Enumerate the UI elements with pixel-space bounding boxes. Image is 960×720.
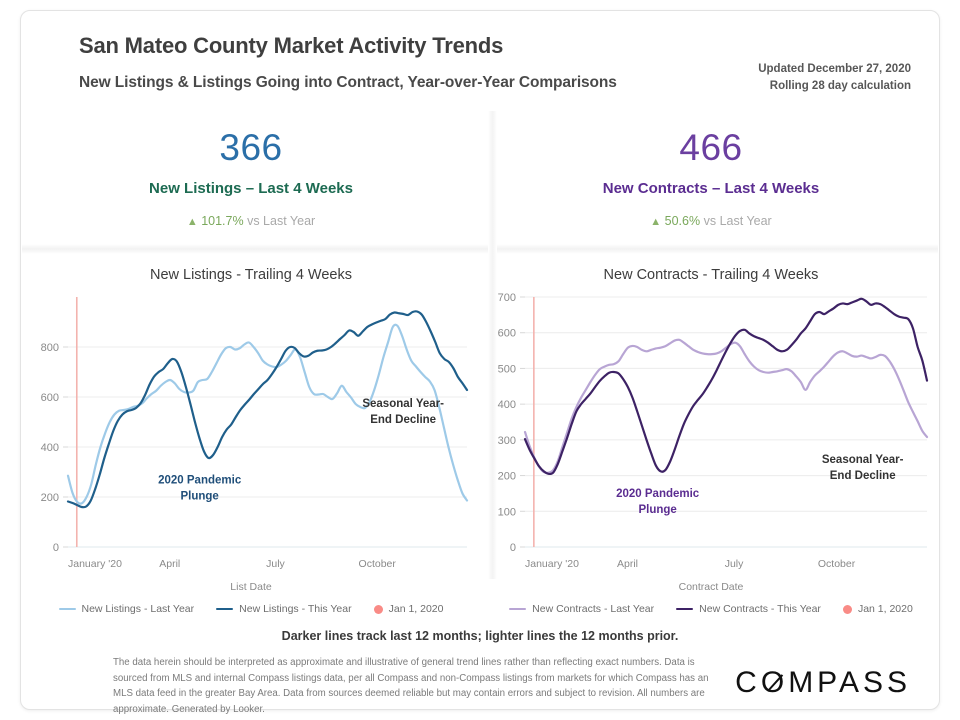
- page-title: San Mateo County Market Activity Trends: [79, 33, 503, 59]
- chart-annotation: Plunge: [638, 504, 676, 516]
- legend-label: New Listings - This Year: [239, 603, 351, 615]
- legend-label: Jan 1, 2020: [389, 603, 444, 615]
- legend-label: New Listings - Last Year: [82, 603, 195, 615]
- y-axis-tick: 700: [498, 292, 516, 304]
- y-axis-tick: 400: [41, 442, 59, 454]
- chart-annotation: 2020 Pandemic: [616, 488, 700, 500]
- dashboard-page: San Mateo County Market Activity Trends …: [0, 0, 960, 720]
- x-axis-label: Contract Date: [481, 581, 941, 593]
- logo-text-post: MPASS: [788, 666, 911, 699]
- x-axis-tick: January '20: [525, 558, 579, 570]
- updated-date: Updated December 27, 2020: [758, 61, 911, 78]
- kpi-label: New Listings – Last 4 Weeks: [21, 180, 481, 197]
- legend-item[interactable]: New Listings - Last Year: [59, 603, 195, 615]
- kpi-delta-value: 50.6%: [665, 214, 700, 228]
- legend-label: New Contracts - Last Year: [532, 603, 654, 615]
- legend-item[interactable]: New Contracts - This Year: [676, 603, 821, 615]
- chart-canvas: 0100200300400500600700January '20AprilJu…: [481, 283, 941, 595]
- legend-line-swatch: [59, 608, 76, 611]
- legend-line-swatch: [676, 608, 693, 611]
- legend-dot-marker: [374, 605, 383, 614]
- y-axis-tick: 600: [498, 328, 516, 340]
- legend-item[interactable]: New Listings - This Year: [216, 603, 351, 615]
- legend-label: New Contracts - This Year: [699, 603, 821, 615]
- x-axis-tick: April: [617, 558, 638, 570]
- report-panel: San Mateo County Market Activity Trends …: [20, 10, 940, 710]
- kpi-value: 366: [21, 129, 481, 166]
- chart-new-contracts: New Contracts - Trailing 4 Weeks 0100200…: [481, 259, 941, 619]
- legend-label: Jan 1, 2020: [858, 603, 913, 615]
- y-axis-tick: 200: [41, 492, 59, 504]
- logo-text-pre: C: [735, 666, 761, 699]
- y-axis-tick: 600: [41, 392, 59, 404]
- x-axis-tick: October: [359, 558, 397, 570]
- series-line: [525, 340, 927, 473]
- x-axis-label: List Date: [21, 581, 481, 593]
- legend-line-swatch: [509, 608, 526, 611]
- kpi-delta: ▲ 50.6% vs Last Year: [481, 214, 941, 228]
- chart-title: New Contracts - Trailing 4 Weeks: [481, 267, 941, 283]
- chart-annotation: End Decline: [830, 470, 896, 482]
- legend-item[interactable]: Jan 1, 2020: [843, 603, 913, 615]
- series-line: [525, 299, 927, 474]
- y-axis-tick: 200: [498, 471, 516, 483]
- triangle-up-icon: ▲: [187, 216, 198, 228]
- legend-dot-marker: [843, 605, 852, 614]
- y-axis-tick: 100: [498, 506, 516, 518]
- x-axis-tick: January '20: [68, 558, 122, 570]
- chart-annotation: 2020 Pandemic: [158, 474, 242, 486]
- chart-annotation: Plunge: [180, 490, 218, 502]
- kpi-delta-suffix: vs Last Year: [247, 214, 315, 228]
- horizontal-divider: [22, 244, 938, 254]
- kpi-delta: ▲ 101.7% vs Last Year: [21, 214, 481, 228]
- chart-annotation: Seasonal Year-: [362, 398, 444, 410]
- chart-legend-listings: New Listings - Last YearNew Listings - T…: [21, 603, 481, 615]
- legend-line-swatch: [216, 608, 233, 611]
- page-subtitle: New Listings & Listings Going into Contr…: [79, 74, 617, 92]
- y-axis-tick: 0: [510, 542, 516, 554]
- y-axis-tick: 500: [498, 363, 516, 375]
- compass-logo: COMPASS: [735, 666, 911, 700]
- report-meta: Updated December 27, 2020 Rolling 28 day…: [758, 61, 911, 94]
- kpi-delta-suffix: vs Last Year: [704, 214, 772, 228]
- y-axis-tick: 0: [53, 542, 59, 554]
- kpi-card-new-listings: 366 New Listings – Last 4 Weeks ▲ 101.7%…: [21, 129, 481, 228]
- x-axis-tick: July: [725, 558, 744, 570]
- triangle-up-icon: ▲: [650, 216, 661, 228]
- chart-new-listings: New Listings - Trailing 4 Weeks 02004006…: [21, 259, 481, 619]
- kpi-label: New Contracts – Last 4 Weeks: [481, 180, 941, 197]
- x-axis-tick: April: [159, 558, 180, 570]
- chart-legend-contracts: New Contracts - Last YearNew Contracts -…: [481, 603, 941, 615]
- footer-disclaimer: The data herein should be interpreted as…: [113, 655, 713, 718]
- x-axis-tick: July: [266, 558, 285, 570]
- chart-annotation: End Decline: [370, 414, 436, 426]
- legend-item[interactable]: New Contracts - Last Year: [509, 603, 654, 615]
- rolling-calc: Rolling 28 day calculation: [758, 78, 911, 95]
- y-axis-tick: 800: [41, 342, 59, 354]
- logo-slashed-o-icon: O: [761, 666, 788, 700]
- y-axis-tick: 300: [498, 435, 516, 447]
- y-axis-tick: 400: [498, 399, 516, 411]
- chart-annotation: Seasonal Year-: [822, 454, 904, 466]
- kpi-delta-value: 101.7%: [201, 214, 243, 228]
- kpi-card-new-contracts: 466 New Contracts – Last 4 Weeks ▲ 50.6%…: [481, 129, 941, 228]
- kpi-value: 466: [481, 129, 941, 166]
- footer-note: Darker lines track last 12 months; light…: [21, 629, 939, 643]
- chart-canvas: 0200400600800January '20AprilJulyOctober…: [21, 283, 481, 595]
- chart-title: New Listings - Trailing 4 Weeks: [21, 267, 481, 283]
- x-axis-tick: October: [818, 558, 856, 570]
- legend-item[interactable]: Jan 1, 2020: [374, 603, 444, 615]
